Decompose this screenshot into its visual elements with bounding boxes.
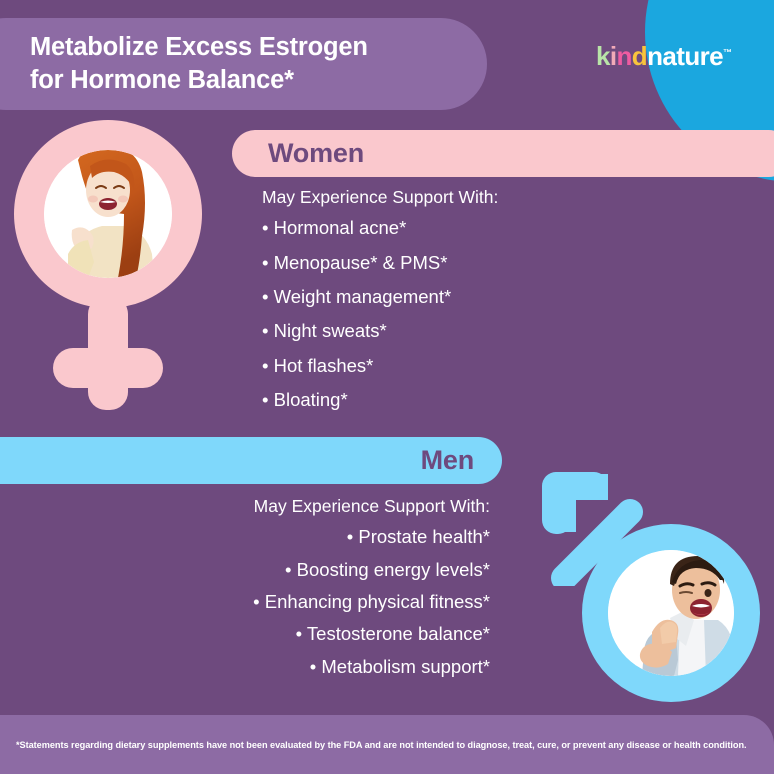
women-section-banner: Women xyxy=(232,130,774,177)
men-list-intro: May Experience Support With: xyxy=(110,497,490,516)
male-gender-symbol xyxy=(528,466,774,710)
logo-letter-n1: n xyxy=(617,41,632,71)
logo-letter-i: i xyxy=(610,41,617,71)
logo-letter-k: k xyxy=(596,41,610,71)
list-item: • Testosterone balance* xyxy=(110,624,490,644)
man-photo xyxy=(608,550,734,676)
infographic-canvas: Metabolize Excess Estrogen for Hormone B… xyxy=(0,0,774,774)
list-item: • Night sweats* xyxy=(262,321,682,341)
trademark-symbol: ™ xyxy=(723,47,731,57)
woman-portrait-illustration xyxy=(44,150,172,278)
list-item: • Hormonal acne* xyxy=(262,218,682,238)
logo-letter-a: a xyxy=(662,41,676,71)
men-banner-label: Men xyxy=(421,445,474,476)
female-gender-symbol xyxy=(6,120,210,410)
footer-disclaimer-bar: *Statements regarding dietary supplement… xyxy=(0,715,774,774)
women-list-intro: May Experience Support With: xyxy=(262,188,682,207)
kindnature-logo: kindnature™ xyxy=(596,43,731,69)
logo-letter-u: u xyxy=(684,41,699,71)
page-title: Metabolize Excess Estrogen for Hormone B… xyxy=(30,31,368,96)
list-item: • Hot flashes* xyxy=(262,356,682,376)
list-item: • Bloating* xyxy=(262,390,682,410)
women-banner-label: Women xyxy=(268,138,364,169)
list-item: • Enhancing physical fitness* xyxy=(110,592,490,612)
logo-letter-d: d xyxy=(632,41,647,71)
man-portrait-illustration xyxy=(608,550,734,676)
list-item: • Boosting energy levels* xyxy=(110,560,490,580)
men-section-banner: Men xyxy=(0,437,502,484)
list-item: • Menopause* & PMS* xyxy=(262,253,682,273)
logo-letter-n2: n xyxy=(647,41,662,71)
woman-photo xyxy=(44,150,172,278)
female-symbol-crossbar xyxy=(53,348,163,388)
title-banner: Metabolize Excess Estrogen for Hormone B… xyxy=(0,18,487,110)
disclaimer-text: *Statements regarding dietary supplement… xyxy=(16,740,747,750)
logo-letter-e: e xyxy=(709,41,723,71)
women-benefits-list: May Experience Support With: • Hormonal … xyxy=(262,188,682,424)
list-item: • Metabolism support* xyxy=(110,657,490,677)
list-item: • Prostate health* xyxy=(110,527,490,547)
list-item: • Weight management* xyxy=(262,287,682,307)
men-benefits-list: May Experience Support With: • Prostate … xyxy=(110,497,490,689)
logo-letter-r: r xyxy=(700,41,710,71)
